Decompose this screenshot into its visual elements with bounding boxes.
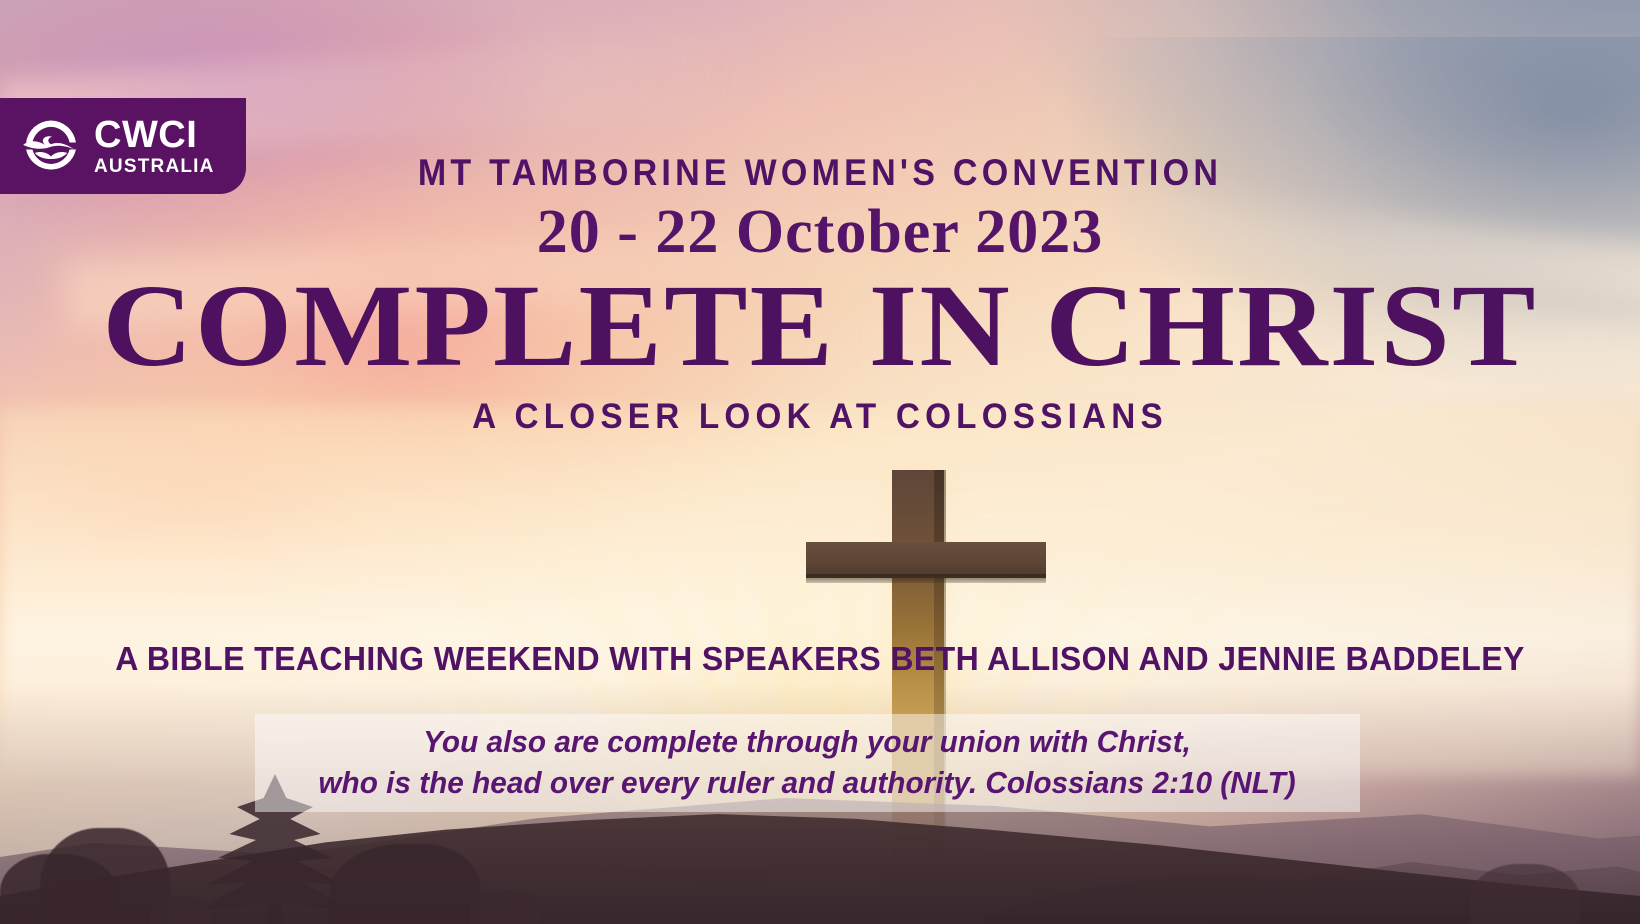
event-date: 20 - 22 October 2023 xyxy=(0,200,1640,265)
cross-horizontal-beam xyxy=(806,542,1046,578)
shrub-silhouette-a xyxy=(470,890,540,924)
scripture-quote-line-2: who is the head over every ruler and aut… xyxy=(319,763,1296,804)
event-kicker: MT TAMBORINE WOMEN'S CONVENTION xyxy=(66,152,1575,194)
tree-silhouette-mid xyxy=(330,844,480,924)
scripture-quote-box: You also are complete through your union… xyxy=(255,714,1360,812)
cross-horizontal-shadow xyxy=(806,574,1046,583)
shrub-silhouette-b xyxy=(150,896,210,924)
scripture-quote-text: You also are complete through your union… xyxy=(319,722,1296,804)
scripture-quote-line-1: You also are complete through your union… xyxy=(319,722,1296,763)
poster-text-block: MT TAMBORINE WOMEN'S CONVENTION 20 - 22 … xyxy=(0,0,1640,437)
speakers-line: A BIBLE TEACHING WEEKEND WITH SPEAKERS B… xyxy=(25,640,1616,678)
event-poster: CWCI AUSTRALIA MT TAMBORINE WOMEN'S CONV… xyxy=(0,0,1640,924)
tree-silhouette-right xyxy=(1470,864,1580,924)
event-subtitle: A CLOSER LOOK AT COLOSSIANS xyxy=(41,397,1599,437)
page-title: COMPLETE IN CHRIST xyxy=(0,267,1640,385)
